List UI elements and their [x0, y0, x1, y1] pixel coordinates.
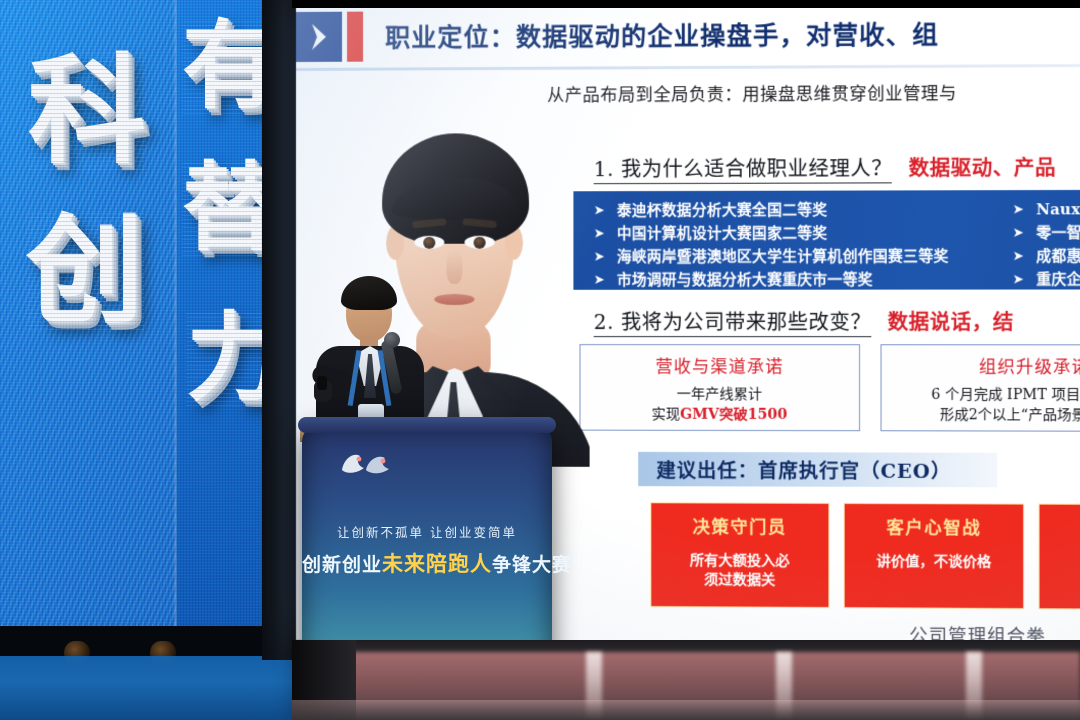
achievements-box: ➤ 泰迪杯数据分析大赛全国二等奖 ➤ 中国计算机设计大赛国家二等奖 ➤ 海峡两岸…: [573, 189, 1080, 290]
promise-card-organization: 组织升级承诺 6 个月完成 IPMT 项目制组织改 形成2个以上“产品场景项目组: [881, 344, 1080, 432]
achievement-label: 市场调研与数据分析大赛重庆市一等奖: [617, 268, 873, 289]
achievement-label: 泰迪杯数据分析大赛全国二等奖: [617, 199, 828, 221]
led-video-wall: 科 创 有 替 力: [0, 0, 288, 626]
achievement-item: ➤ 零一智流（重庆: [1013, 221, 1080, 243]
portrait-eye-left: [414, 236, 444, 249]
promise-line: 形成2个以上“产品场景项目组: [940, 405, 1080, 426]
wall-glyph-1: 科: [28, 52, 146, 170]
red-card-title: 决策守门员: [693, 512, 787, 538]
achievement-label: 中国计算机设计大赛国家二等奖: [617, 222, 828, 244]
arrow-bullet-icon: ➤: [594, 226, 605, 239]
arrow-bullet-icon: ➤: [1013, 226, 1024, 239]
slide-title-row: 职业定位：数据驱动的企业操盘手，对营收、组: [296, 7, 1080, 62]
title-underline: [296, 64, 1080, 71]
arrow-bullet-icon: ➤: [594, 273, 605, 286]
achievement-item: ➤ 海峡两岸暨港澳地区大学生计算机创作国赛三等奖: [594, 245, 990, 267]
floor-left-glow: [0, 656, 292, 720]
event-name-gold: 未来陪跑人: [382, 551, 492, 576]
portrait-nose: [446, 250, 462, 284]
role-recommendation-text: 建议出任：首席执行官（CEO）: [656, 455, 951, 483]
flame-logo-icon: [338, 450, 394, 476]
wall-glyph-2: 创: [26, 212, 144, 330]
promise-title: 营收与渠道承诺: [655, 352, 783, 377]
section-2-heading: 2. 我将为公司带来那些改变？ 数据说话，结: [594, 306, 1014, 337]
led-panel-seam: [174, 0, 177, 626]
red-card: 决策守门员 所有大额投入必 须过数据关: [650, 502, 829, 608]
achievements-column-right: ➤ NauxsAi社区联 ➤ 零一智流（重庆 ➤ 成都惠益通科技 ➤ 重庆企力麟…: [990, 197, 1080, 289]
red-card-body: 所有大额投入必 须过数据关: [690, 552, 790, 591]
portrait-mouth: [434, 294, 474, 305]
arrow-bullet-icon: ➤: [1013, 249, 1024, 262]
stage-floor-front-edge: [292, 700, 1080, 720]
red-card-title: 客户心智战: [886, 513, 981, 539]
achievement-label: NauxsAi社区联: [1036, 198, 1080, 220]
presentation-clicker-icon: [317, 376, 327, 390]
red-card-body-line: 须过数据关: [690, 571, 790, 591]
red-card-row: 决策守门员 所有大额投入必 须过数据关 客户心智战 讲价值，不谈价格 执 双倍奖: [650, 502, 1080, 610]
microphone-head-icon: [384, 332, 400, 348]
section-1-highlight: 数据驱动、产品: [909, 151, 1056, 181]
promise-card-revenue: 营收与渠道承诺 一年产线累计 实现GMV突破1500: [579, 344, 860, 431]
speaker-hair: [341, 276, 397, 310]
red-card-body-line: 所有大额投入必: [690, 552, 790, 572]
role-recommendation-bar: 建议出任：首席执行官（CEO）: [638, 452, 997, 487]
arrow-bullet-icon: ➤: [594, 203, 605, 216]
achievement-label: 重庆企力麟科技: [1036, 268, 1080, 289]
podium-top-edge: [298, 417, 556, 433]
portrait-eye-right: [464, 236, 494, 249]
achievement-item: ➤ 中国计算机设计大赛国家二等奖: [594, 222, 990, 244]
section-2-question: 2. 我将为公司带来那些改变？: [594, 306, 872, 337]
achievement-label: 海峡两岸暨港澳地区大学生计算机创作国赛三等奖: [617, 245, 949, 267]
title-accent-bar: [347, 12, 363, 62]
podium-event-name: 创新创业未来陪跑人争锋大赛: [302, 548, 552, 578]
arrow-bullet-icon: ➤: [1013, 272, 1024, 285]
promise-line: 一年产线累计: [677, 384, 762, 405]
promise-line: 6 个月完成 IPMT 项目制组织改: [931, 385, 1080, 406]
event-name-suffix: 争锋大赛: [492, 554, 572, 576]
portrait-iris: [423, 237, 435, 249]
achievement-item: ➤ 成都惠益通科技: [1013, 244, 1080, 266]
led-panel-left: [0, 0, 176, 626]
achievement-item: ➤ 重庆企力麟科技: [1013, 268, 1080, 290]
red-card-body-line: 讲价值，不谈价格: [876, 553, 991, 573]
achievement-item: ➤ NauxsAi社区联: [1013, 197, 1080, 219]
slide-title: 职业定位：数据驱动的企业操盘手，对营收、组: [385, 8, 939, 62]
arrow-bullet-icon: ➤: [594, 250, 605, 263]
promise-highlight: GMV突破1500: [680, 407, 787, 423]
promise-title: 组织升级承诺: [979, 352, 1080, 377]
red-card: 执 双倍奖: [1039, 504, 1080, 611]
chevron-right-icon: [296, 12, 342, 62]
red-card: 客户心智战 讲价值，不谈价格: [844, 503, 1024, 609]
screen-top-letterbox: [292, 0, 1080, 8]
achievement-label: 成都惠益通科技: [1036, 245, 1080, 266]
red-card-body: 讲价值，不谈价格: [876, 553, 991, 573]
podium-tagline: 让创新不孤单 让创业变简单: [302, 522, 552, 541]
slide-subtitle: 从产品布局到全局负责：用操盘思维贯穿创业管理与: [547, 79, 957, 106]
event-name-prefix: 创新创业: [302, 554, 382, 576]
portrait-iris: [474, 237, 486, 249]
section-2-highlight: 数据说话，结: [888, 306, 1014, 335]
led-wall-base: [0, 626, 272, 658]
achievement-label: 零一智流（重庆: [1036, 221, 1080, 243]
achievement-item: ➤ 市场调研与数据分析大赛重庆市一等奖: [594, 268, 990, 290]
achievement-item: ➤ 泰迪杯数据分析大赛全国二等奖: [594, 198, 990, 220]
section-1-question: 1. 我为什么适合做职业经理人？: [594, 152, 893, 184]
achievements-column-left: ➤ 泰迪杯数据分析大赛全国二等奖 ➤ 中国计算机设计大赛国家二等奖 ➤ 海峡两岸…: [573, 198, 990, 290]
promise-line: 实现GMV突破1500: [652, 405, 787, 426]
stage-scene: 科 创 有 替 力 职业定位：数据驱动的企业操盘手，对营收、组 从产品布局到全局…: [0, 0, 1080, 720]
section-1-heading: 1. 我为什么适合做职业经理人？ 数据驱动、产品: [594, 151, 1056, 184]
arrow-bullet-icon: ➤: [1013, 202, 1024, 215]
